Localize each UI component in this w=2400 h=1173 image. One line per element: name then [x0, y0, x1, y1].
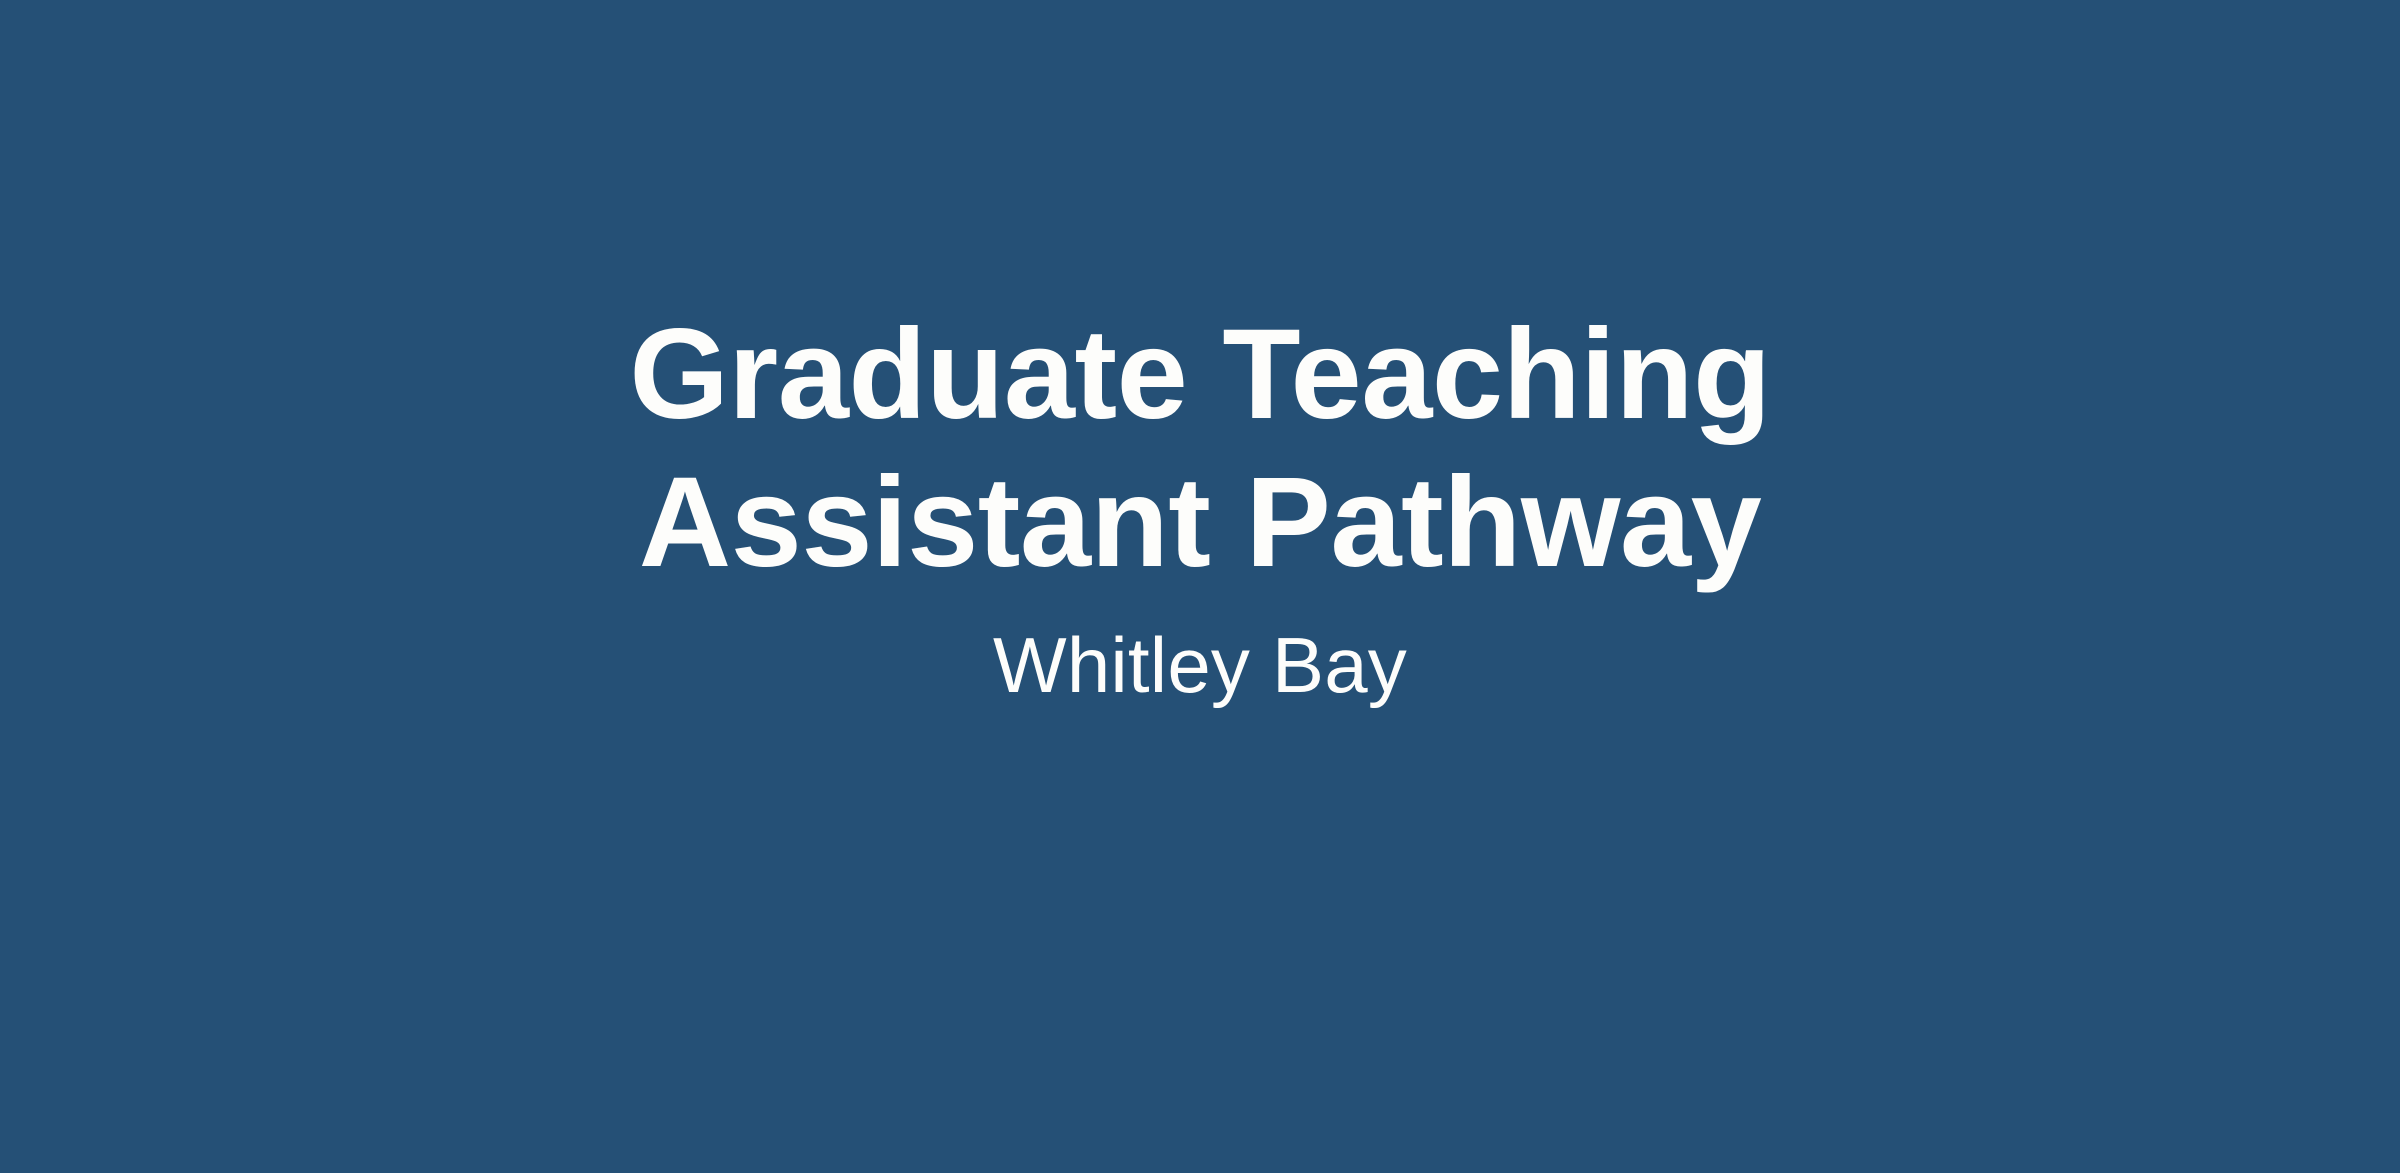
page-title: Graduate Teaching Assistant Pathway	[348, 301, 2052, 597]
page-subtitle: Whitley Bay	[993, 597, 1407, 711]
title-slide: Graduate Teaching Assistant Pathway Whit…	[0, 0, 2400, 1173]
hero-text-block: Graduate Teaching Assistant Pathway Whit…	[0, 0, 2400, 1173]
